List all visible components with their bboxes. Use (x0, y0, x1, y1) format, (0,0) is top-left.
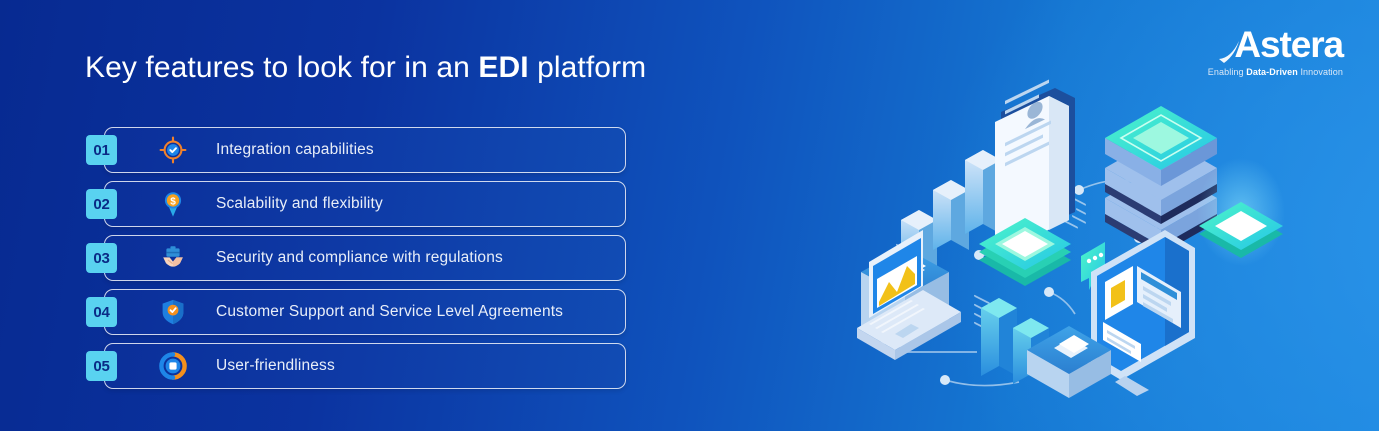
feature-label: Security and compliance with regulations (216, 235, 503, 281)
feature-label: Scalability and flexibility (216, 181, 383, 227)
clipboard-document (995, 60, 1081, 246)
feature-row[interactable]: 05 User-friendliness (86, 343, 626, 389)
glowing-chip (1197, 158, 1285, 266)
feature-number-badge: 03 (86, 243, 117, 273)
feature-number-badge: 04 (86, 297, 117, 327)
logo-tagline-after: Innovation (1298, 67, 1343, 77)
svg-text:$: $ (170, 197, 176, 208)
feature-list: 01 Integration capabiliti (86, 127, 626, 397)
logo-swoosh-icon (1218, 34, 1252, 60)
page-title-emphasis: EDI (478, 51, 528, 84)
feature-number-badge: 05 (86, 351, 117, 381)
feature-number-badge: 01 (86, 135, 117, 165)
shield-check-icon (158, 297, 188, 327)
feature-label: Customer Support and Service Level Agree… (216, 289, 563, 335)
dollar-coin-arrow-icon: $ (158, 189, 188, 219)
page-title-after: platform (529, 51, 647, 84)
astera-logo[interactable]: Astera Enabling Data-Driven Innovation (1208, 26, 1343, 77)
target-check-icon (158, 135, 188, 165)
feature-row[interactable]: 04 Customer Support and Service Level Ag… (86, 289, 626, 335)
edi-features-banner: Key features to look for in an EDI platf… (0, 0, 1379, 431)
feature-label: User-friendliness (216, 343, 335, 389)
feature-row[interactable]: 01 Integration capabiliti (86, 127, 626, 173)
page-title-before: Key features to look for in an (85, 51, 478, 84)
logo-tagline-before: Enabling (1208, 67, 1246, 77)
logo-tagline: Enabling Data-Driven Innovation (1208, 67, 1343, 77)
left-content-column: Key features to look for in an EDI platf… (0, 0, 700, 431)
page-title: Key features to look for in an EDI platf… (85, 51, 646, 85)
logo-tagline-emphasis: Data-Driven (1246, 67, 1298, 77)
feature-row[interactable]: 02 $ Scalability and flexibility (86, 181, 626, 227)
feature-label: Integration capabilities (216, 127, 374, 173)
feature-number-badge: 02 (86, 189, 117, 219)
isometric-data-integration-illustration (849, 60, 1319, 400)
logo-wordmark: Astera (1234, 26, 1343, 63)
handshake-briefcase-icon (158, 243, 188, 273)
feature-row[interactable]: 03 Security and compliance with regulati… (86, 235, 626, 281)
circular-arc-square-icon (158, 351, 188, 381)
